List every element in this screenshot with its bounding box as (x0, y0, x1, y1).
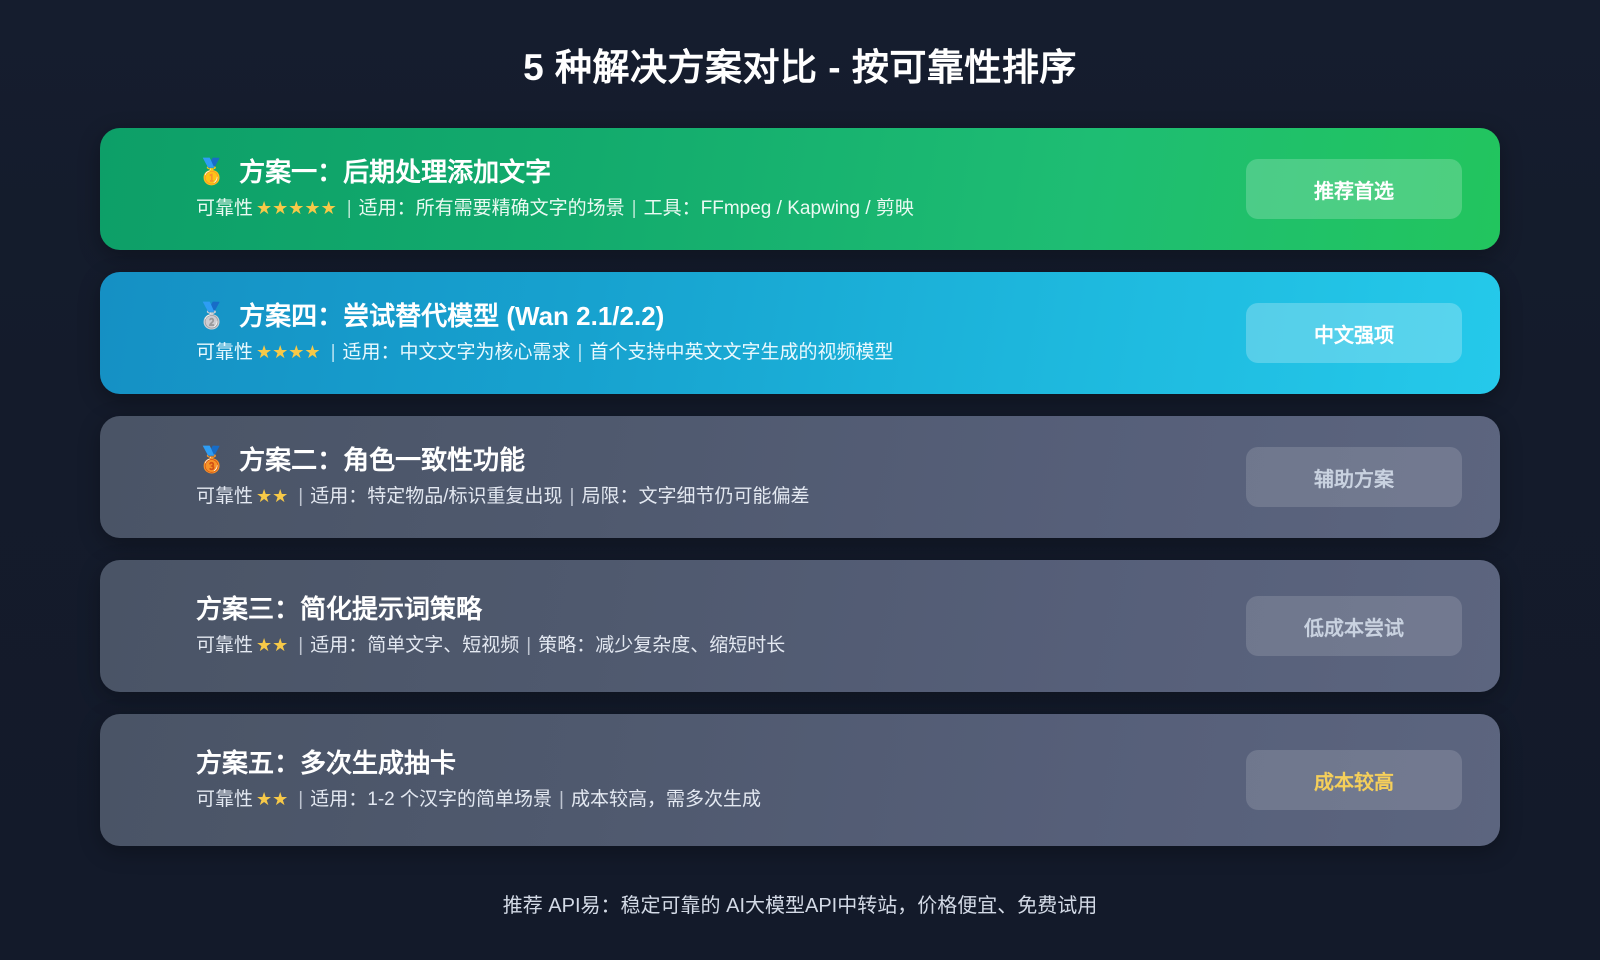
detail2-label: 工具： (644, 198, 701, 221)
detail1-value: 1-2 个汉字的简单场景 (367, 789, 552, 812)
comparison-page: 5 种解决方案对比 - 按可靠性排序 🥇 方案一：后期处理添加文字 可靠性 ★★… (0, 0, 1600, 960)
solution-card[interactable]: 🥇 方案一：后期处理添加文字 可靠性 ★★★★★ | 适用： 所有需要精确文字的… (100, 128, 1500, 250)
separator: | (324, 342, 343, 365)
bronze-medal-icon: 🥉 (196, 448, 227, 473)
solution-card[interactable]: 方案五：多次生成抽卡 可靠性 ★★ | 适用： 1-2 个汉字的简单场景 | 成… (100, 714, 1500, 846)
reliability-label: 可靠性 (196, 198, 253, 221)
detail1-value: 特定物品/标识重复出现 (367, 486, 562, 509)
card-heading: 方案五：多次生成抽卡 (196, 749, 1246, 779)
card-heading: 方案三：简化提示词策略 (196, 595, 1246, 625)
card-title: 方案三：简化提示词策略 (196, 595, 482, 625)
reliability-stars: ★★ (256, 789, 288, 811)
detail1-label: 适用： (310, 486, 367, 509)
reliability-label: 可靠性 (196, 635, 253, 658)
title-bar: 5 种解决方案对比 - 按可靠性排序 (0, 0, 1600, 128)
separator: | (625, 198, 644, 221)
card-body: 方案五：多次生成抽卡 可靠性 ★★ | 适用： 1-2 个汉字的简单场景 | 成… (100, 749, 1246, 812)
detail1-value: 中文文字为核心需求 (400, 342, 571, 365)
card-subtitle: 可靠性 ★★ | 适用： 1-2 个汉字的简单场景 | 成本较高，需多次生成 (196, 789, 1246, 812)
detail1-label: 适用： (343, 342, 400, 365)
solution-card[interactable]: 方案三：简化提示词策略 可靠性 ★★ | 适用： 简单文字、短视频 | 策略： … (100, 560, 1500, 692)
detail1-label: 适用： (310, 789, 367, 812)
reliability-stars: ★★★★ (256, 342, 321, 364)
detail2-value: FFmpeg / Kapwing / 剪映 (701, 198, 914, 221)
separator: | (291, 486, 310, 509)
card-title: 方案四：尝试替代模型 (Wan 2.1/2.2) (239, 302, 664, 332)
page-title: 5 种解决方案对比 - 按可靠性排序 (523, 37, 1077, 91)
separator: | (340, 198, 359, 221)
reliability-label: 可靠性 (196, 789, 253, 812)
card-title: 方案二：角色一致性功能 (239, 446, 525, 476)
detail2-value: 成本较高，需多次生成 (571, 789, 761, 812)
separator: | (291, 789, 310, 812)
gold-medal-icon: 🥇 (196, 160, 227, 185)
reliability-stars: ★★★★★ (256, 198, 337, 220)
footer: 推荐 API易：稳定可靠的 AI大模型API中转站，价格便宜、免费试用 (0, 846, 1600, 960)
detail2-value: 文字细节仍可能偏差 (638, 486, 809, 509)
silver-medal-icon: 🥈 (196, 304, 227, 329)
separator: | (571, 342, 590, 365)
detail1-label: 适用： (359, 198, 416, 221)
card-subtitle: 可靠性 ★★ | 适用： 特定物品/标识重复出现 | 局限： 文字细节仍可能偏差 (196, 486, 1246, 509)
reliability-stars: ★★ (256, 486, 288, 508)
separator: | (552, 789, 571, 812)
detail1-value: 简单文字、短视频 (367, 635, 519, 658)
card-heading: 🥉 方案二：角色一致性功能 (196, 446, 1246, 476)
detail2-label: 策略： (538, 635, 595, 658)
card-body: 方案三：简化提示词策略 可靠性 ★★ | 适用： 简单文字、短视频 | 策略： … (100, 595, 1246, 658)
card-title: 方案一：后期处理添加文字 (239, 158, 551, 188)
separator: | (563, 486, 582, 509)
reliability-label: 可靠性 (196, 486, 253, 509)
card-subtitle: 可靠性 ★★ | 适用： 简单文字、短视频 | 策略： 减少复杂度、缩短时长 (196, 635, 1246, 658)
card-title: 方案五：多次生成抽卡 (196, 749, 456, 779)
card-subtitle: 可靠性 ★★★★ | 适用： 中文文字为核心需求 | 首个支持中英文文字生成的视… (196, 342, 1246, 365)
separator: | (519, 635, 538, 658)
card-heading: 🥈 方案四：尝试替代模型 (Wan 2.1/2.2) (196, 302, 1246, 332)
detail2-value: 首个支持中英文文字生成的视频模型 (589, 342, 893, 365)
status-badge[interactable]: 中文强项 (1246, 303, 1462, 363)
solution-card[interactable]: 🥈 方案四：尝试替代模型 (Wan 2.1/2.2) 可靠性 ★★★★ | 适用… (100, 272, 1500, 394)
status-badge[interactable]: 低成本尝试 (1246, 596, 1462, 656)
reliability-stars: ★★ (256, 635, 288, 657)
status-badge[interactable]: 辅助方案 (1246, 447, 1462, 507)
detail2-label: 局限： (581, 486, 638, 509)
solution-card[interactable]: 🥉 方案二：角色一致性功能 可靠性 ★★ | 适用： 特定物品/标识重复出现 |… (100, 416, 1500, 538)
footer-text: 推荐 API易：稳定可靠的 AI大模型API中转站，价格便宜、免费试用 (503, 889, 1097, 918)
status-badge[interactable]: 成本较高 (1246, 750, 1462, 810)
card-subtitle: 可靠性 ★★★★★ | 适用： 所有需要精确文字的场景 | 工具： FFmpeg… (196, 198, 1246, 221)
status-badge[interactable]: 推荐首选 (1246, 159, 1462, 219)
solution-card-list: 🥇 方案一：后期处理添加文字 可靠性 ★★★★★ | 适用： 所有需要精确文字的… (0, 128, 1600, 846)
card-body: 🥉 方案二：角色一致性功能 可靠性 ★★ | 适用： 特定物品/标识重复出现 |… (100, 446, 1246, 509)
detail1-label: 适用： (310, 635, 367, 658)
detail2-value: 减少复杂度、缩短时长 (595, 635, 785, 658)
card-body: 🥈 方案四：尝试替代模型 (Wan 2.1/2.2) 可靠性 ★★★★ | 适用… (100, 302, 1246, 365)
reliability-label: 可靠性 (196, 342, 253, 365)
card-body: 🥇 方案一：后期处理添加文字 可靠性 ★★★★★ | 适用： 所有需要精确文字的… (100, 158, 1246, 221)
card-heading: 🥇 方案一：后期处理添加文字 (196, 158, 1246, 188)
separator: | (291, 635, 310, 658)
detail1-value: 所有需要精确文字的场景 (416, 198, 625, 221)
